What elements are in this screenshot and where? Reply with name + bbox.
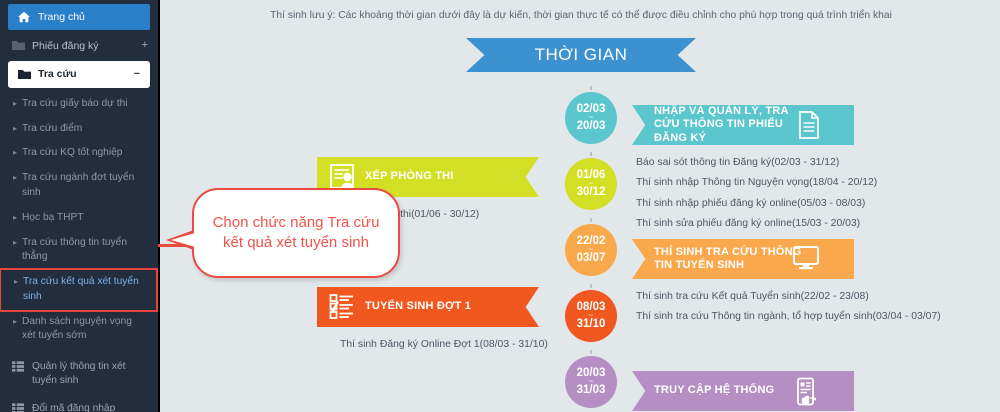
tilde-icon: ~ [589,248,594,253]
callout-tail [166,230,194,250]
sidebar-item-doi-ma-dang-nhap[interactable]: Đổi mã đăng nhập [0,395,158,412]
chevron-right-icon: ▸ [13,98,17,110]
sidebar-item-tra-cuu-label: Tra cứu [34,67,134,81]
mobile-tap-icon [796,377,820,406]
ribbon-title: TUYỂN SINH ĐỢT 1 [365,300,471,313]
timeline-banner: THỜI GIAN [466,38,696,72]
list-icon [12,361,28,372]
milestone-circle-5: 20/03 ~ 31/03 [565,356,617,408]
list-item: Báo sai sót thông tin Đăng ký(02/03 - 31… [636,153,966,173]
sidebar-item-tra-cuu[interactable]: Tra cứu − [8,61,150,88]
chevron-right-icon: ▸ [13,123,17,135]
milestone-end-date: 03/07 [577,252,606,264]
sidebar-item-quan-ly-thong-tin[interactable]: Quản lý thông tin xét tuyển sinh [0,353,158,395]
sidebar-subitem-label: Tra cứu ngành đợt tuyển sinh [22,172,134,198]
sidebar-subitem-ket-qua-xet-tuyen-sinh[interactable]: ▸ Tra cứu kết quả xét tuyển sinh [1,270,156,310]
list-item: Thí sinh nhập phiếu đăng ký online(05/03… [636,194,966,214]
milestone-end-date: 20/03 [577,120,606,132]
sidebar-subitem-nguyen-vong-xet-tuyen-som[interactable]: ▸ Danh sách nguyện vọng xét tuyển sớm [0,310,158,350]
sidebar-subitem-tra-cuu-diem[interactable]: ▸ Tra cứu điểm [0,117,158,142]
sidebar-subitem-label: Học bạ THPT [22,212,84,223]
sidebar-subitem-giay-bao-du-thi[interactable]: ▸ Tra cứu giấy báo dự thi [0,92,158,117]
milestone-end-date: 31/10 [577,318,606,330]
milestone-end-date: 31/03 [577,384,606,396]
ribbon-nhap-va-quan-ly: NHẬP VÀ QUẢN LÝ, TRA CỨU THÔNG TIN PHIẾU… [632,105,854,145]
sidebar-subitem-label: Tra cứu điểm [22,123,82,134]
sidebar-subitem-label: Danh sách nguyện vọng xét tuyển sớm [22,316,132,342]
list-icon [12,403,28,412]
sidebar-item-phieu-dang-ky-label: Phiếu đăng ký [28,39,142,53]
sidebar-item-quan-ly-label: Quản lý thông tin xét tuyển sinh [28,360,148,388]
milestone-circle-3: 22/02 ~ 03/07 [565,224,617,276]
sidebar-item-phieu-dang-ky[interactable]: Phiếu đăng ký + [0,32,158,59]
checklist-icon [329,293,357,320]
chevron-right-icon: ▸ [13,237,17,249]
page-root: Trang chủ Phiếu đăng ký + Tra cứu − ▸ T [0,0,1000,412]
sidebar-top: Trang chủ Phiếu đăng ký + Tra cứu − [0,0,158,88]
sidebar-item-doi-ma-label: Đổi mã đăng nhập [28,402,148,412]
timeline-note: Thí sinh lưu ý: Các khoảng thời gian dướ… [162,10,1000,21]
chevron-right-icon: ▸ [13,316,17,328]
ribbon-1-items: Báo sai sót thông tin Đăng ký(02/03 - 31… [636,153,966,234]
home-icon [18,11,34,23]
ribbon-title: NHẬP VÀ QUẢN LÝ, TRA CỨU THÔNG TIN PHIẾU… [654,105,812,145]
sidebar-subitem-tuyen-thang[interactable]: ▸ Tra cứu thông tin tuyển thẳng [0,231,158,271]
milestone-circle-4: 08/03 ~ 31/10 [565,290,617,342]
chevron-right-icon: ▸ [13,147,17,159]
tilde-icon: ~ [589,182,594,187]
sidebar-item-home[interactable]: Trang chủ [8,4,150,30]
ribbon-tuyen-sinh-dot-1: TUYỂN SINH ĐỢT 1 [317,287,539,327]
ribbon-title: THÍ SINH TRA CỨU THÔNG TIN TUYỂN SINH [654,246,812,272]
timeline-banner-label: THỜI GIAN [535,45,628,65]
list-item: Thí sinh tra cứu Kết quả Tuyển sinh(22/0… [636,287,966,307]
chevron-right-icon: ▸ [13,212,17,224]
ribbon-title: XẾP PHÒNG THI [365,170,454,183]
collapse-minus-icon[interactable]: − [134,67,140,82]
milestone-circle-2: 01/06 ~ 30/12 [565,158,617,210]
expand-plus-icon[interactable]: + [142,38,148,53]
ribbon-title: TRUY CẬP HỆ THỐNG [654,384,774,397]
tilde-icon: ~ [589,116,594,121]
sidebar-subitem-nganh-dot-tuyen-sinh[interactable]: ▸ Tra cứu ngành đợt tuyển sinh [0,166,158,206]
list-item: Thí sinh sửa phiếu đăng ký online(15/03 … [636,214,966,234]
list-item: Thí sinh nhập Thông tin Nguyện vọng(18/0… [636,173,966,193]
milestone-end-date: 30/12 [577,186,606,198]
ribbon-3-items: Thí sinh tra cứu Kết quả Tuyển sinh(22/0… [636,287,966,328]
callout-bubble: Chọn chức năng Tra cứu kết quả xét tuyển… [192,188,400,278]
folder-icon [12,40,28,51]
sidebar-subitem-kq-tot-nghiep[interactable]: ▸ Tra cứu KQ tốt nghiệp [0,141,158,166]
callout-text: Chọn chức năng Tra cứu kết quả xét tuyển… [194,213,398,253]
sidebar-subitem-label: Tra cứu giấy báo dự thi [22,98,128,109]
sidebar-subitem-label: Tra cứu kết quả xét tuyển sinh [23,276,139,302]
tilde-icon: ~ [589,314,594,319]
sidebar-subitem-label: Tra cứu KQ tốt nghiệp [22,147,122,158]
sidebar-subitem-hoc-ba-thpt[interactable]: ▸ Học bạ THPT [0,206,158,231]
chevron-right-icon: ▸ [14,276,18,288]
ribbon-truy-cap-he-thong: TRUY CẬP HỆ THỐNG [632,371,854,411]
milestone-circle-1: 02/03 ~ 20/03 [565,92,617,144]
folder-open-icon [18,69,34,80]
tilde-icon: ~ [589,380,594,385]
list-item: Thí sinh tra cứu Thông tin ngành, tổ hợp… [636,307,966,327]
chevron-right-icon: ▸ [13,172,17,184]
sidebar-subitem-label: Tra cứu thông tin tuyển thẳng [22,237,127,263]
ribbon-tra-cuu-thong-tin: THÍ SINH TRA CỨU THÔNG TIN TUYỂN SINH [632,239,854,279]
id-card-icon [329,163,355,190]
sidebar-item-home-label: Trang chủ [34,10,140,24]
sidebar: Trang chủ Phiếu đăng ký + Tra cứu − ▸ T [0,0,160,412]
sidebar-submenu: ▸ Tra cứu giấy báo dự thi ▸ Tra cứu điểm… [0,90,158,353]
